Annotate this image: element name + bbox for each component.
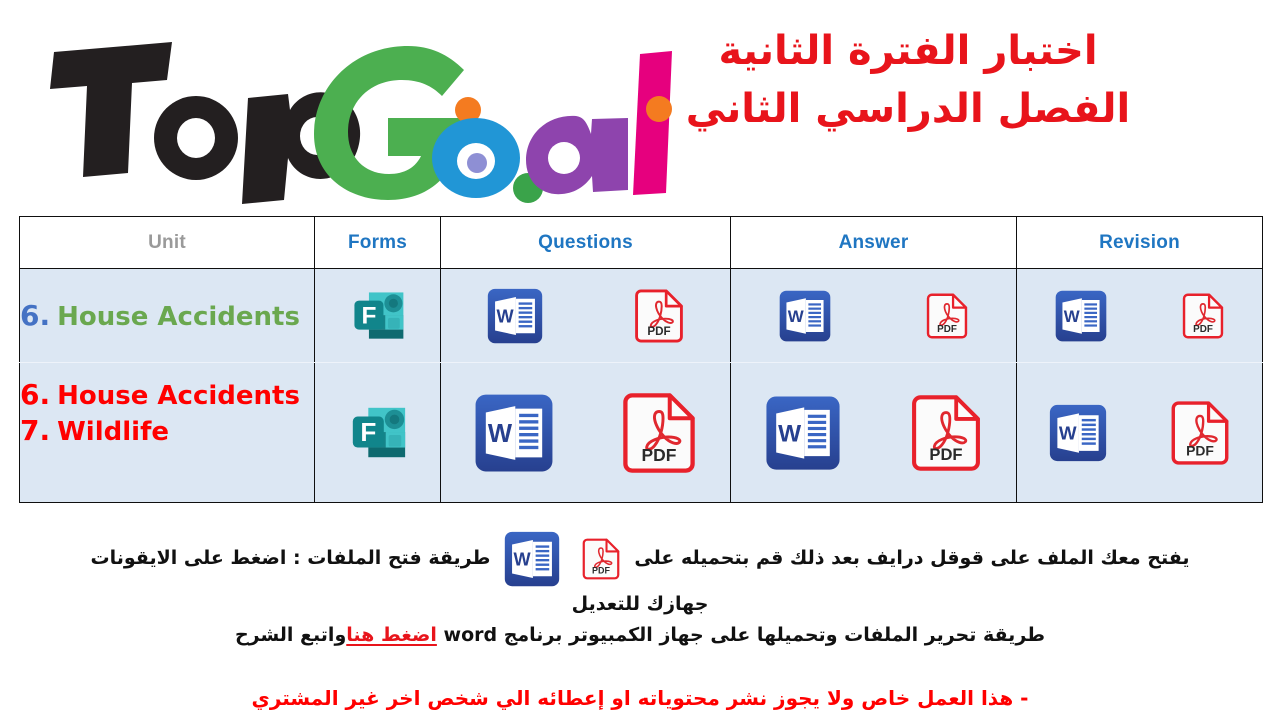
word-icon[interactable]: W xyxy=(778,289,832,343)
unit-entry: 7.Wildlife xyxy=(20,413,314,449)
unit-cell: 6.House Accidents 7.Wildlife xyxy=(20,363,315,503)
unit-label: House Accidents xyxy=(50,302,300,332)
title-line-1: اختبار الفترة الثانية xyxy=(628,22,1188,80)
pdf-icon[interactable]: PDF xyxy=(925,291,969,341)
answer-cell: W xyxy=(731,269,1017,363)
forms-cell: F xyxy=(315,269,441,363)
pdf-icon[interactable]: PDF xyxy=(909,392,983,474)
word-program-name: word xyxy=(444,621,498,650)
svg-text:W: W xyxy=(778,420,801,447)
column-header-forms: Forms xyxy=(315,217,441,269)
column-header-answer: Answer xyxy=(731,217,1017,269)
revision-cell: W xyxy=(1017,269,1263,363)
unit-number: 6. xyxy=(20,378,50,411)
instruction-text-d: واتبع الشرح xyxy=(235,624,346,646)
page-header: اختبار الفترة الثانية الفصل الدراسي الثا… xyxy=(0,0,1280,212)
svg-text:W: W xyxy=(1059,422,1077,443)
unit-label: Wildlife xyxy=(50,417,169,447)
instruction-line-1: يفتح معك الملف على قوقل درايف بعد ذلك قم… xyxy=(10,530,1270,588)
slide-page: اختبار الفترة الثانية الفصل الدراسي الثا… xyxy=(0,0,1280,720)
pdf-icon[interactable]: PDF xyxy=(1181,291,1225,341)
instruction-line-1-cont: جهازك للتعديل xyxy=(10,590,1270,619)
exam-title: اختبار الفترة الثانية الفصل الدراسي الثا… xyxy=(628,22,1188,138)
svg-text:F: F xyxy=(361,302,376,329)
forms-icon[interactable]: F xyxy=(349,287,407,345)
svg-text:W: W xyxy=(496,306,514,326)
questions-cell: W xyxy=(441,363,731,503)
svg-text:W: W xyxy=(1064,306,1080,325)
svg-text:W: W xyxy=(514,549,532,569)
svg-text:F: F xyxy=(360,416,376,446)
svg-text:PDF: PDF xyxy=(641,445,676,465)
unit-number: 7. xyxy=(20,414,50,447)
column-header-unit: Unit xyxy=(20,217,315,269)
word-icon[interactable]: W xyxy=(764,394,842,472)
pdf-icon[interactable]: PDF xyxy=(633,287,685,345)
svg-text:W: W xyxy=(488,419,513,447)
instruction-text-b: طريقة تحرير الملفات وتحميلها على جهاز ال… xyxy=(504,624,1045,646)
unit-entry: 6.House Accidents xyxy=(20,298,314,334)
svg-text:PDF: PDF xyxy=(937,323,957,334)
forms-cell: F xyxy=(315,363,441,503)
click-here-link[interactable]: اضغط هنا xyxy=(346,624,437,646)
units-table: Unit Forms Questions Answer Revision 6.H… xyxy=(19,216,1263,503)
pdf-icon[interactable]: PDF xyxy=(581,536,621,582)
word-icon[interactable]: W xyxy=(473,392,555,474)
svg-text:PDF: PDF xyxy=(648,324,671,337)
svg-text:PDF: PDF xyxy=(1186,442,1214,458)
forms-icon[interactable]: F xyxy=(347,402,409,464)
column-header-questions: Questions xyxy=(441,217,731,269)
answer-cell: W xyxy=(731,363,1017,503)
svg-text:PDF: PDF xyxy=(1193,323,1213,334)
instruction-text-a: طريقة فتح الملفات : اضغط على الايقونات xyxy=(91,545,491,573)
svg-text:PDF: PDF xyxy=(592,565,610,575)
column-header-revision: Revision xyxy=(1017,217,1263,269)
instruction-line-2: طريقة تحرير الملفات وتحميلها على جهاز ال… xyxy=(10,621,1270,650)
svg-text:W: W xyxy=(788,306,804,325)
unit-number: 6. xyxy=(20,299,50,332)
instructions-block: يفتح معك الملف على قوقل درايف بعد ذلك قم… xyxy=(10,530,1270,651)
word-icon[interactable]: W xyxy=(486,287,544,345)
revision-cell: W xyxy=(1017,363,1263,503)
topgoal-logo xyxy=(36,18,676,208)
questions-cell: W xyxy=(441,269,731,363)
pdf-icon[interactable]: PDF xyxy=(1169,398,1231,468)
unit-label: House Accidents xyxy=(50,381,300,411)
word-icon[interactable]: W xyxy=(503,530,561,588)
table-row: 6.House Accidents xyxy=(20,269,1263,363)
table-row: 6.House Accidents 7.Wildlife xyxy=(20,363,1263,503)
word-icon[interactable]: W xyxy=(1054,289,1108,343)
pdf-icon[interactable]: PDF xyxy=(620,390,698,476)
unit-entry: 6.House Accidents xyxy=(20,377,314,413)
word-icon[interactable]: W xyxy=(1048,403,1108,463)
unit-cell: 6.House Accidents xyxy=(20,269,315,363)
instruction-text-c: يفتح معك الملف على قوقل درايف بعد ذلك قم… xyxy=(634,545,1189,573)
copyright-note: - هذا العمل خاص ولا يجوز نشر محتوياته او… xyxy=(0,686,1280,710)
svg-text:PDF: PDF xyxy=(929,444,962,463)
table-header-row: Unit Forms Questions Answer Revision xyxy=(20,217,1263,269)
title-line-2: الفصل الدراسي الثاني xyxy=(628,80,1188,138)
